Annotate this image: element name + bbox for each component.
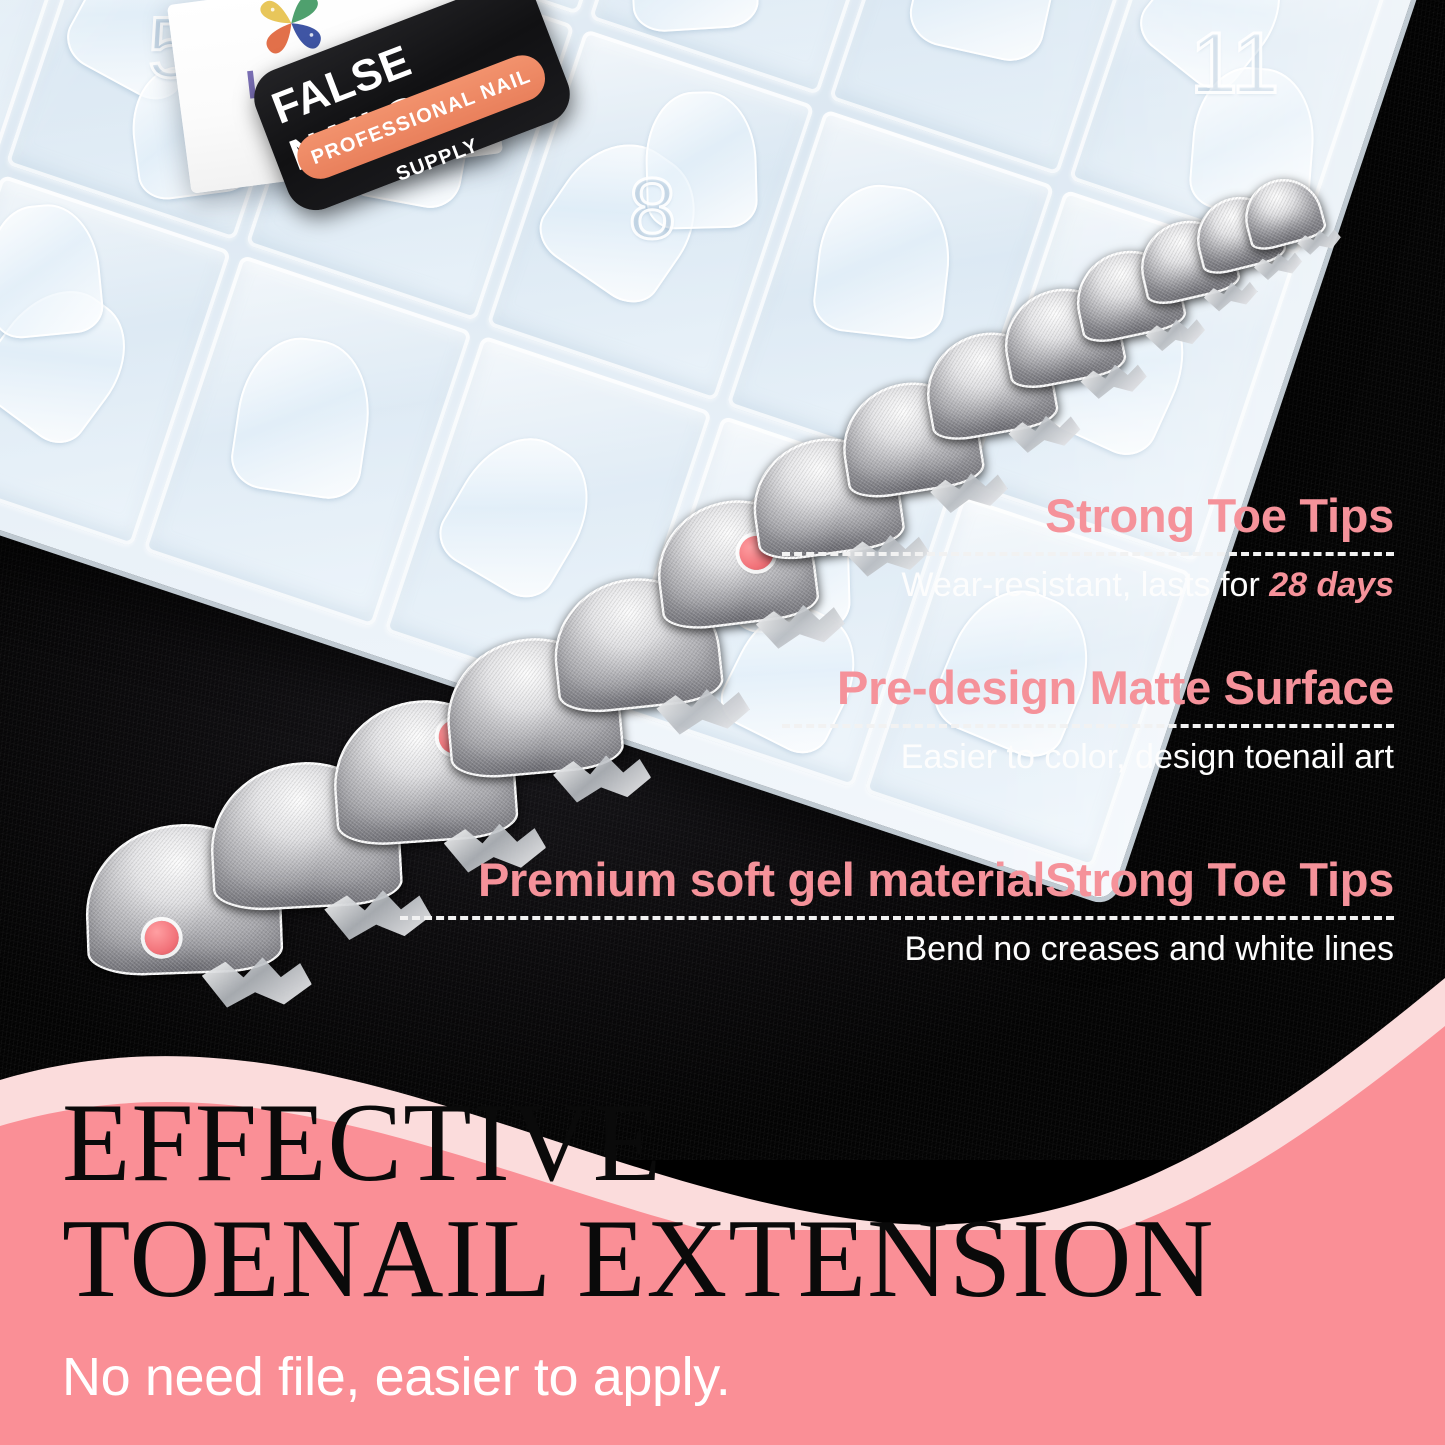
feature-subtext-prefix: Wear-resistant, lasts for (901, 566, 1269, 604)
feature-subtext: Easier to color, design toenail art (782, 739, 1394, 776)
dashed-divider (782, 724, 1394, 728)
banner-tagline: No need file, easier to apply. (0, 1346, 1445, 1408)
feature-subtext-prefix: Easier to color, design toenail art (901, 738, 1394, 776)
dashed-divider (400, 916, 1394, 920)
dashed-divider (782, 552, 1394, 556)
feature-subtext: Wear-resistant, lasts for 28 days (782, 567, 1394, 604)
feature-heading: Premium soft gel materialStrong Toe Tips (400, 856, 1394, 903)
product-marketing-image: 4 11 5 (0, 0, 1445, 1445)
feature-subtext-emphasis: 28 days (1269, 566, 1394, 604)
bottom-banner: EFFECTIVE TOENAIL EXTENSION No need file… (0, 1085, 1445, 1408)
headline-line-1: EFFECTIVE (0, 1085, 1445, 1201)
feature-callout-strong-toe-tips: Strong Toe Tips Wear-resistant, lasts fo… (782, 492, 1394, 604)
headline-line-2: TOENAIL EXTENSION (0, 1201, 1445, 1317)
feature-callout-matte-surface: Pre-design Matte Surface Easier to color… (782, 664, 1394, 776)
feature-heading: Pre-design Matte Surface (782, 664, 1394, 711)
feature-heading: Strong Toe Tips (782, 492, 1394, 539)
